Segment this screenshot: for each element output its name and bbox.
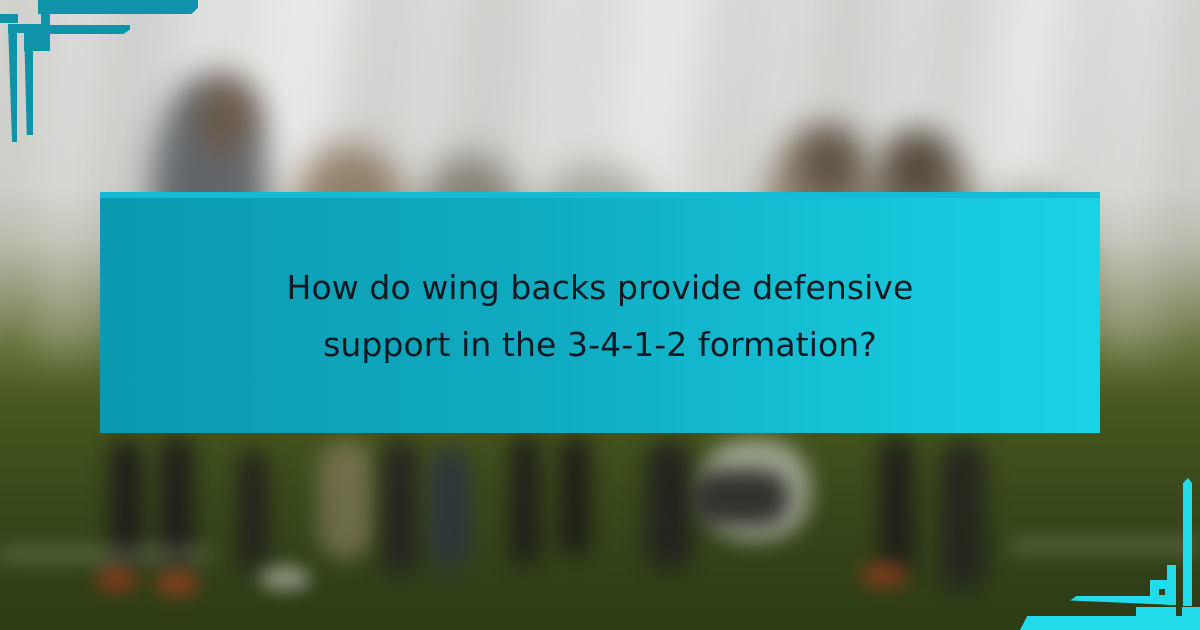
silhouette-legs-6 [430, 448, 470, 568]
silhouette-boot-3 [260, 566, 310, 590]
headline-banner: How do wing backs provide defensive supp… [100, 198, 1100, 433]
ornament-bar-bottom-right-edge [1182, 607, 1200, 616]
silhouette-legs-4 [318, 440, 374, 560]
page-title: How do wing backs provide defensive supp… [270, 259, 930, 373]
silhouette-legs-5 [382, 440, 418, 575]
ornament-bar-top-long [38, 0, 198, 14]
pitch-marking-line [0, 548, 210, 562]
silhouette-legs-9 [646, 440, 692, 570]
silhouette-legs-8 [560, 436, 590, 556]
corner-ornament-top-left [0, 0, 220, 180]
poster-canvas: How do wing backs provide defensive supp… [0, 0, 1200, 630]
silhouette-boot-1 [96, 566, 138, 592]
silhouette-player-5-head [800, 128, 860, 196]
ornament-bracket-horizontal-bottom [1136, 607, 1176, 616]
ornament-bracket-vertical-bottom [1167, 565, 1176, 605]
ornament-bar-left-outer [8, 24, 17, 142]
silhouette-boot-2 [155, 570, 199, 596]
silhouette-legs-10 [690, 470, 790, 526]
silhouette-legs-7 [510, 436, 540, 566]
silhouette-legs-3 [238, 450, 268, 570]
ornament-bar-top-left-edge [0, 14, 18, 23]
silhouette-player-6-head [888, 132, 946, 198]
silhouette-boot-4 [860, 562, 908, 588]
ornament-bar-bottom-long [1020, 616, 1200, 630]
silhouette-legs-11 [880, 436, 914, 574]
ornament-bar-right-long [1183, 478, 1192, 606]
ornament-bracket-vertical [24, 25, 33, 135]
corner-ornament-bottom-right [980, 430, 1200, 630]
